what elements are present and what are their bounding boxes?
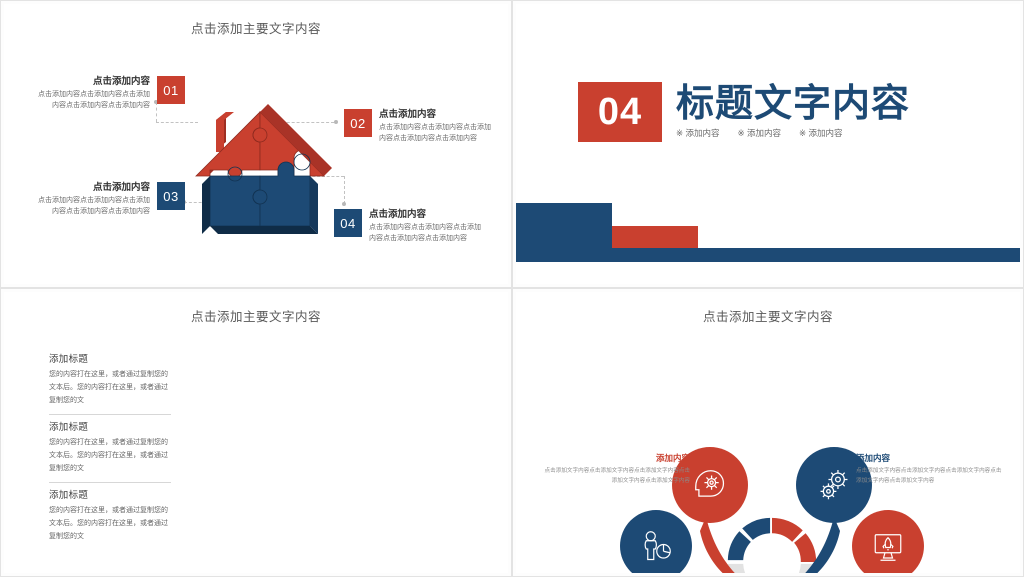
section-bullet-1: ※ 添加内容 [676, 127, 719, 139]
item-03-body: 点击添加内容点击添加内容点击添加内容点击添加内容点击添加内容 [32, 196, 150, 218]
section-bullet-3: ※ 添加内容 [799, 127, 842, 139]
bubble-label-2-body: 点击添加文字内容点击添加文字内容点击添加文字内容点击添加文字内容点击添加文字内容 [856, 467, 1006, 486]
slide-4-bubble-cluster[interactable]: 点击添加主要文字内容 [512, 288, 1024, 577]
rocket-monitor-icon [870, 528, 906, 564]
item-03-heading: 点击添加内容 [32, 182, 150, 194]
item-02-heading: 点击添加内容 [379, 109, 497, 121]
page-title: 点击添加主要文字内容 [516, 306, 1020, 325]
bubble-label-1-title: 添加内容 [540, 452, 690, 464]
page-title: 点击添加主要文字内容 [4, 306, 508, 325]
bubble-tail-red-right [802, 564, 862, 573]
item-04[interactable]: 04 点击添加内容 点击添加内容点击添加内容点击添加内容点击添加内容点击添加内容 [334, 209, 487, 245]
text-block-2-body: 您的内容打在这里，或者通过复制您的文本后。您的内容打在这里，或者通过复制您的文 [49, 437, 171, 476]
section-bullet-2: ※ 添加内容 [737, 127, 780, 139]
bubble-label-2[interactable]: 添加内容 点击添加文字内容点击添加文字内容点击添加文字内容点击添加文字内容点击添… [856, 452, 1006, 486]
head-gear-icon [691, 466, 729, 504]
item-04-number[interactable]: 04 [334, 209, 362, 237]
section-number-badge: 04 [578, 82, 662, 142]
slide-grid: 点击添加主要文字内容 [0, 0, 1024, 577]
text-block-1-heading: 添加标题 [49, 351, 171, 365]
bubble-node-4[interactable] [852, 510, 924, 573]
bubble-label-1[interactable]: 添加内容 点击添加文字内容点击添加文字内容点击添加文字内容点击添加文字内容点击添… [540, 452, 690, 486]
item-02[interactable]: 02 点击添加内容 点击添加内容点击添加内容点击添加内容点击添加内容点击添加内容 [344, 109, 497, 145]
decor-bar-blue-large [516, 203, 612, 251]
bubble-label-2-title: 添加内容 [856, 452, 1006, 464]
text-blocks-column: 添加标题 您的内容打在这里，或者通过复制您的文本后。您的内容打在这里，或者通过复… [49, 347, 171, 549]
bubble-label-1-body: 点击添加文字内容点击添加文字内容点击添加文字内容点击添加文字内容点击添加文字内容 [540, 467, 690, 486]
text-block-3-heading: 添加标题 [49, 487, 171, 501]
section-subtitle-list: ※ 添加内容 ※ 添加内容 ※ 添加内容 [676, 127, 910, 139]
item-02-body: 点击添加内容点击添加内容点击添加内容点击添加内容点击添加内容 [379, 123, 497, 145]
page-title: 点击添加主要文字内容 [4, 18, 508, 37]
text-block-1-body: 您的内容打在这里，或者通过复制您的文本后。您的内容打在这里，或者通过复制您的文 [49, 369, 171, 408]
gears-icon [815, 466, 853, 504]
text-block-2[interactable]: 添加标题 您的内容打在这里，或者通过复制您的文本后。您的内容打在这里，或者通过复… [49, 414, 171, 482]
item-01-body: 点击添加内容点击添加内容点击添加内容点击添加内容点击添加内容 [32, 90, 150, 112]
bubble-tail-blue-left [684, 564, 744, 573]
item-02-number[interactable]: 02 [344, 109, 372, 137]
item-03-number[interactable]: 03 [157, 182, 185, 210]
puzzle-house-icon [182, 86, 342, 246]
item-01-number[interactable]: 01 [157, 76, 185, 104]
person-chart-icon [638, 528, 674, 564]
bubble-node-3[interactable] [620, 510, 692, 573]
connector-dot-04 [342, 202, 346, 206]
item-01[interactable]: 点击添加内容 点击添加内容点击添加内容点击添加内容点击添加内容点击添加内容 01 [32, 76, 185, 112]
decor-bar-blue-strip [516, 248, 1020, 262]
slide-2-section-cover[interactable]: 04 标题文字内容 ※ 添加内容 ※ 添加内容 ※ 添加内容 [512, 0, 1024, 288]
item-01-heading: 点击添加内容 [32, 76, 150, 88]
text-block-1[interactable]: 添加标题 您的内容打在这里，或者通过复制您的文本后。您的内容打在这里，或者通过复… [49, 347, 171, 414]
slide-3-cycle-rings[interactable]: 点击添加主要文字内容 添加标题 您的内容打在这里，或者通过复制您的文本后。您的内… [0, 288, 512, 577]
section-title: 标题文字内容 [676, 85, 910, 123]
item-03[interactable]: 点击添加内容 点击添加内容点击添加内容点击添加内容点击添加内容点击添加内容 03 [32, 182, 185, 218]
slide-1-puzzle-house[interactable]: 点击添加主要文字内容 [0, 0, 512, 288]
text-block-3-body: 您的内容打在这里，或者通过复制您的文本后。您的内容打在这里，或者通过复制您的文 [49, 505, 171, 544]
section-cover-header: 04 标题文字内容 ※ 添加内容 ※ 添加内容 ※ 添加内容 [578, 82, 910, 142]
item-04-heading: 点击添加内容 [369, 209, 487, 221]
text-block-3[interactable]: 添加标题 您的内容打在这里，或者通过复制您的文本后。您的内容打在这里，或者通过复… [49, 482, 171, 550]
item-04-body: 点击添加内容点击添加内容点击添加内容点击添加内容点击添加内容 [369, 223, 487, 245]
text-block-2-heading: 添加标题 [49, 419, 171, 433]
connector-line-04b [344, 176, 345, 204]
